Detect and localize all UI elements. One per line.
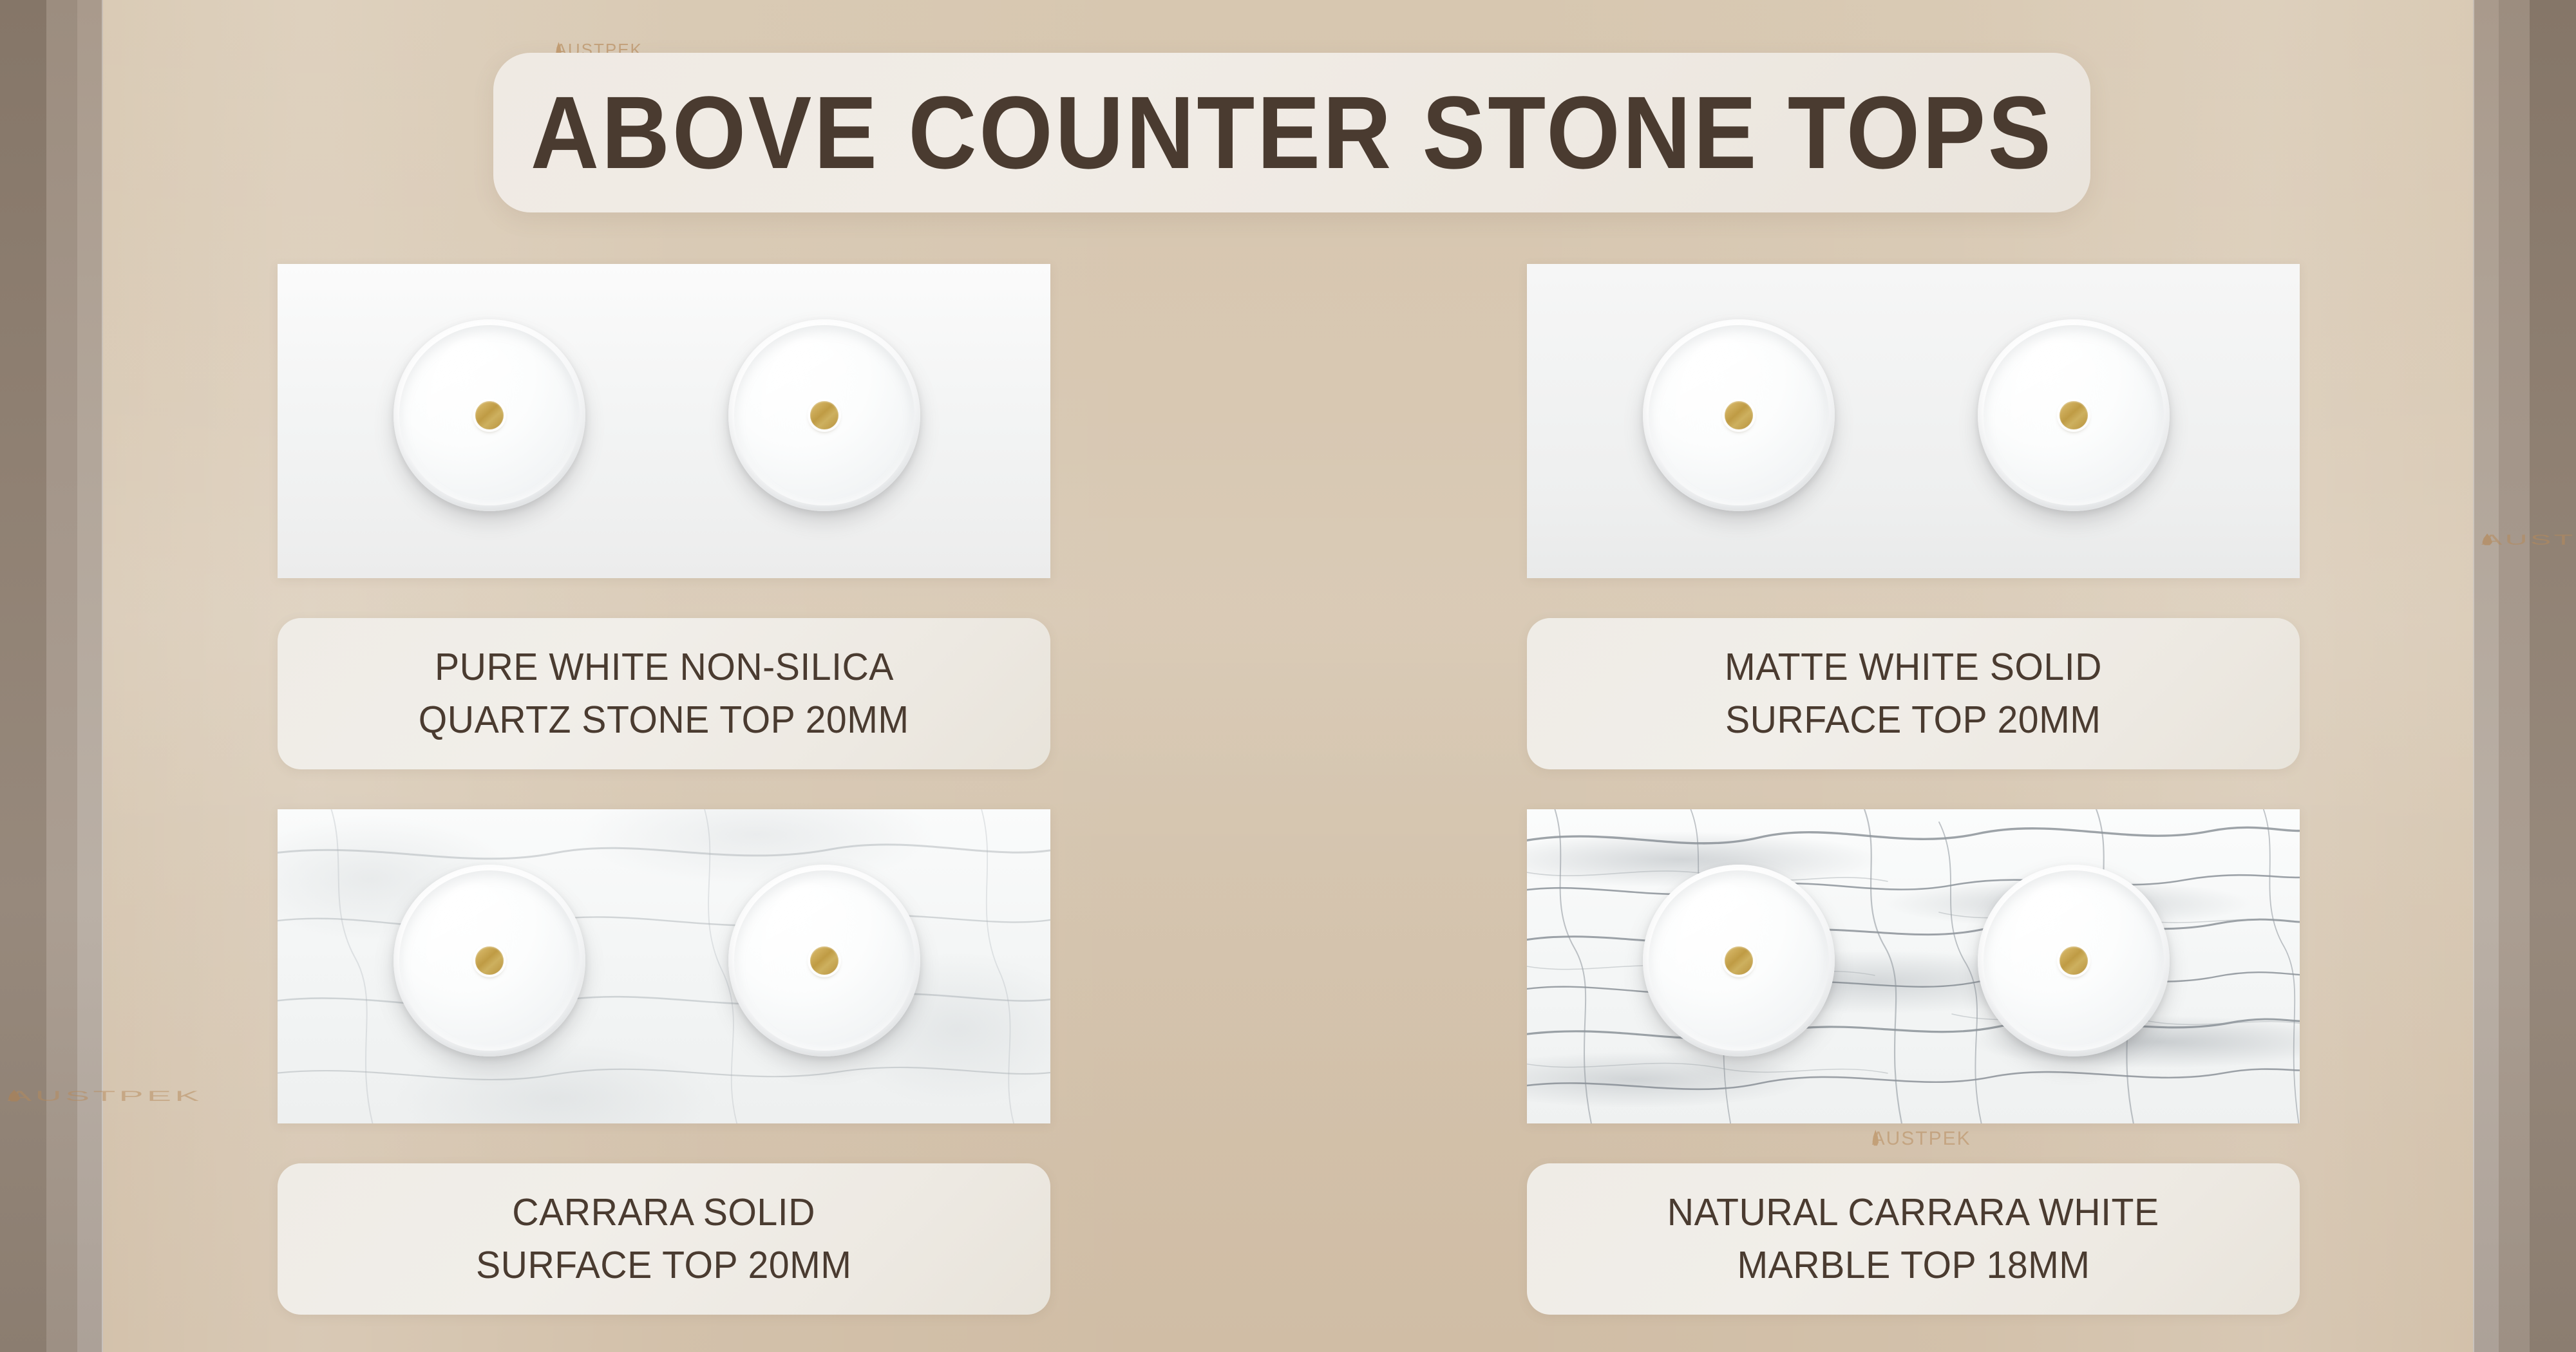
product-name-line-1: MATTE WHITE SOLID	[1725, 641, 2102, 693]
slide-title-banner: ABOVE COUNTER STONE TOPS	[493, 53, 2090, 212]
product-name-line-1: CARRARA SOLID	[513, 1187, 816, 1239]
basin-left	[393, 319, 585, 511]
product-name-line-2: SURFACE TOP 20MM	[476, 1239, 851, 1291]
basin-right	[728, 319, 920, 511]
drain-brass-icon	[475, 946, 504, 975]
product-name-line-2: MARBLE TOP 18MM	[1737, 1239, 2090, 1291]
right-edge-band-2	[2499, 0, 2530, 1352]
product-label: MATTE WHITE SOLID SURFACE TOP 20MM	[1527, 618, 2300, 769]
product-label: PURE WHITE NON-SILICA QUARTZ STONE TOP 2…	[278, 618, 1050, 769]
right-edge-hairline	[2473, 0, 2474, 1352]
basin-right	[1978, 319, 2170, 511]
product-card-matte-white-solid-surface[interactable]: MATTE WHITE SOLID SURFACE TOP 20MM	[1527, 264, 2300, 769]
product-card-natural-carrara-white-marble[interactable]: NATURAL CARRARA WHITE MARBLE TOP 18MM	[1527, 809, 2300, 1315]
left-edge-hairline	[102, 0, 103, 1352]
drain-brass-icon	[810, 946, 838, 975]
basin-left	[1643, 865, 1835, 1056]
product-image	[1527, 809, 2300, 1123]
left-edge-band-2	[46, 0, 77, 1352]
basin-right	[728, 865, 920, 1056]
left-edge-band-1	[0, 0, 46, 1352]
product-image	[278, 264, 1050, 578]
basin-left	[1643, 319, 1835, 511]
product-grid: PURE WHITE NON-SILICA QUARTZ STONE TOP 2…	[278, 264, 2300, 1315]
right-edge-band-3	[2473, 0, 2499, 1352]
product-name-line-2: QUARTZ STONE TOP 20MM	[419, 694, 909, 746]
product-name-line-1: PURE WHITE NON-SILICA	[435, 641, 894, 693]
product-image	[1527, 264, 2300, 578]
product-card-carrara-solid-surface[interactable]: CARRARA SOLID SURFACE TOP 20MM	[278, 809, 1050, 1315]
drain-brass-icon	[810, 401, 838, 429]
slide-canvas: AUSTPEK AUSTPEK AUSTPEK AUSTPEK ABOVE CO…	[0, 0, 2576, 1352]
drain-brass-icon	[2060, 946, 2088, 975]
basin-left	[393, 865, 585, 1056]
product-card-pure-white-non-silica-quartz[interactable]: PURE WHITE NON-SILICA QUARTZ STONE TOP 2…	[278, 264, 1050, 769]
left-edge-band-3	[77, 0, 103, 1352]
product-name-line-2: SURFACE TOP 20MM	[1725, 694, 2101, 746]
drain-brass-icon	[1725, 401, 1753, 429]
product-label: CARRARA SOLID SURFACE TOP 20MM	[278, 1163, 1050, 1315]
product-image	[278, 809, 1050, 1123]
drain-brass-icon	[475, 401, 504, 429]
product-name-line-1: NATURAL CARRARA WHITE	[1667, 1187, 2159, 1239]
page-title: ABOVE COUNTER STONE TOPS	[531, 81, 2054, 184]
right-edge-band-1	[2530, 0, 2576, 1352]
basin-right	[1978, 865, 2170, 1056]
drain-brass-icon	[1725, 946, 1753, 975]
product-label: NATURAL CARRARA WHITE MARBLE TOP 18MM	[1527, 1163, 2300, 1315]
drain-brass-icon	[2060, 401, 2088, 429]
